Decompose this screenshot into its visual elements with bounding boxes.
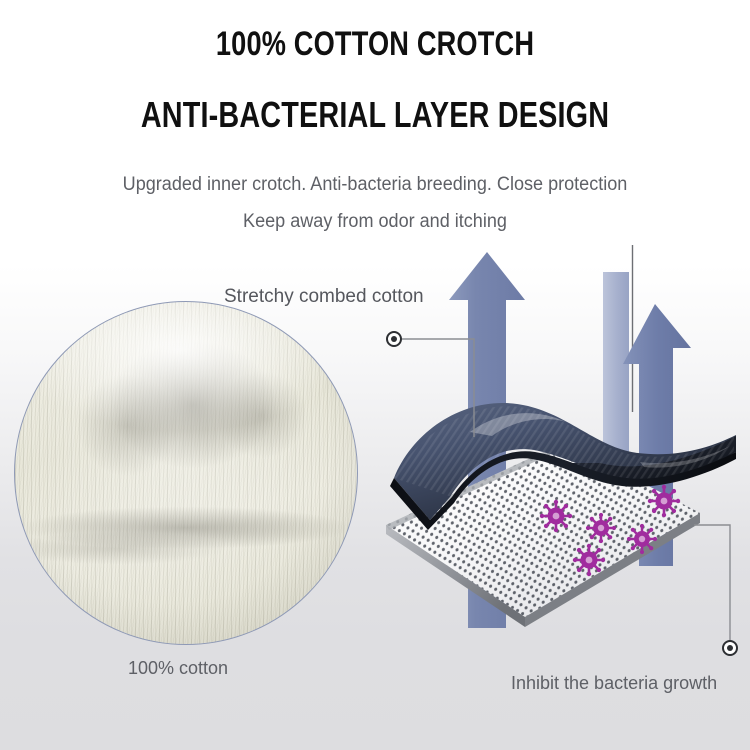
infographic-page: 100% COTTON CROTCH ANTI-BACTERIAL LAYER … [0,0,750,750]
callout-dot-icon-top[interactable] [386,331,402,347]
bacteria-icon-4 [648,485,680,517]
bacteria-icon-1 [540,500,572,532]
bacteria-icon-5 [573,544,605,576]
layer-structure-diagram [0,0,750,750]
callout-label-inhibit-bacteria-growth: Inhibit the bacteria growth [511,672,717,694]
callout-label-stretchy-combed-cotton: Stretchy combed cotton [224,285,424,309]
bacteria-icon-2 [586,513,616,543]
bacteria-icon-3 [627,524,657,554]
callout-leader-bottom [694,525,730,646]
callout-dot-icon-bottom[interactable] [722,640,738,656]
